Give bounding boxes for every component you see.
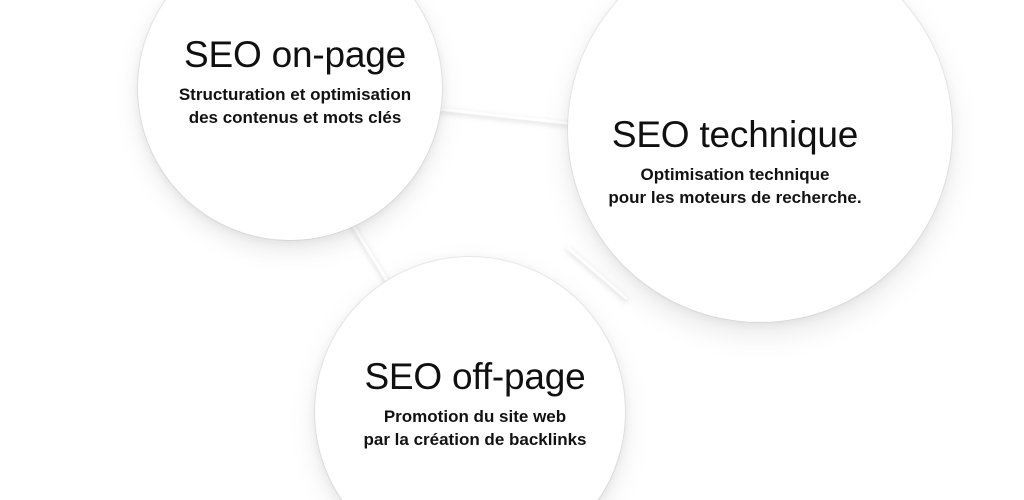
label-seo-off-page: SEO off-page Promotion du site web par l… [310, 358, 640, 452]
node-title-seo-on-page: SEO on-page [130, 36, 460, 75]
subtitle-line: Structuration et optimisation [130, 84, 460, 107]
node-title-seo-off-page: SEO off-page [310, 358, 640, 397]
subtitle-line: pour les moteurs de recherche. [565, 187, 905, 210]
label-seo-on-page: SEO on-page Structuration et optimisatio… [130, 36, 460, 130]
subtitle-line: Optimisation technique [565, 164, 905, 187]
node-title-seo-technique: SEO technique [565, 116, 905, 155]
subtitle-line: des contenus et mots clés [130, 107, 460, 130]
label-seo-technique: SEO technique Optimisation technique pou… [565, 116, 905, 210]
subtitle-line: Promotion du site web [310, 406, 640, 429]
subtitle-line: par la création de backlinks [310, 429, 640, 452]
node-subtitle-seo-technique: Optimisation technique pour les moteurs … [565, 164, 905, 210]
node-subtitle-seo-off-page: Promotion du site web par la création de… [310, 406, 640, 452]
diagram-canvas: SEO on-page Structuration et optimisatio… [0, 0, 1024, 500]
node-subtitle-seo-on-page: Structuration et optimisation des conten… [130, 84, 460, 130]
